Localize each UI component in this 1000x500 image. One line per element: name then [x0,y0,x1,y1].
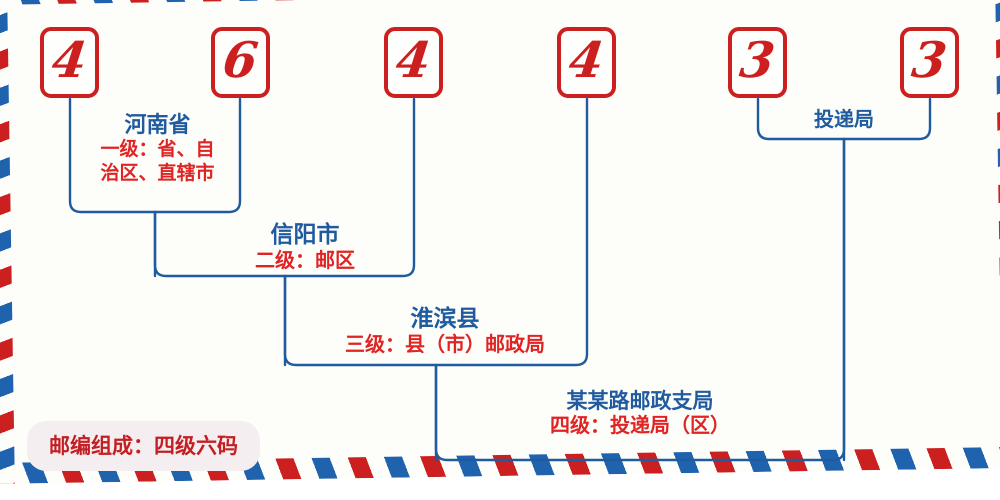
label-level-4-sub-line-1: 四级：投递局（区） [450,413,830,438]
digit-card-5[interactable]: 3 [728,27,787,98]
label-level-2: 信阳市 二级：邮区 [175,222,435,273]
label-level-4-title: 某某路邮政支局 [450,389,830,413]
label-delivery-office: 投递局 [768,108,920,131]
label-level-3: 淮滨县 三级：县（市）邮政局 [295,306,595,357]
label-level-1: 河南省 一级：省、自 治区、直辖市 [75,113,240,186]
digit-glyph-6: 3 [910,36,950,85]
digit-glyph-2: 6 [221,36,261,85]
digit-glyph-1: 4 [50,36,90,85]
digit-card-6[interactable]: 3 [900,27,959,98]
label-level-2-title: 信阳市 [175,222,435,248]
label-level-1-sub-line-2: 治区、直辖市 [75,162,240,186]
label-level-3-sub-line-1: 三级：县（市）邮政局 [295,332,595,357]
digit-card-4[interactable]: 4 [557,27,616,98]
label-level-1-sub-line-1: 一级：省、自 [75,138,240,162]
digit-card-1[interactable]: 4 [40,27,99,98]
digit-glyph-3: 4 [394,36,434,85]
label-level-3-title: 淮滨县 [295,306,595,332]
digit-card-2[interactable]: 6 [211,27,270,98]
diagram-canvas: 4 6 4 4 3 3 河南省 一级：省、自 治区、直辖市 信阳市 二级：邮区 [0,0,1000,500]
label-level-4: 某某路邮政支局 四级：投递局（区） [450,389,830,438]
digit-card-3[interactable]: 4 [384,27,443,98]
digit-glyph-5: 3 [738,36,778,85]
label-delivery-office-title: 投递局 [768,108,920,131]
diagram-content: 4 6 4 4 3 3 河南省 一级：省、自 治区、直辖市 信阳市 二级：邮区 [0,0,1000,500]
legend-badge: 邮编组成：四级六码 [27,421,260,471]
label-level-2-sub-line-1: 二级：邮区 [175,248,435,273]
digit-glyph-4: 4 [567,36,607,85]
label-level-1-title: 河南省 [75,113,240,138]
